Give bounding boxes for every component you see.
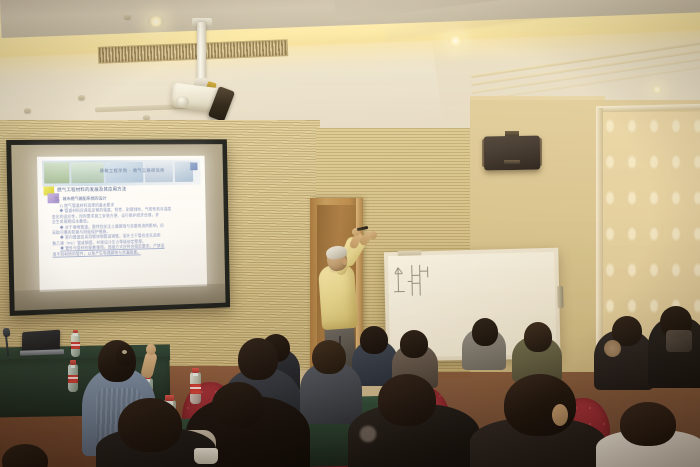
audience-head [360,326,388,354]
projection-screen: 建筑工程学院 · 燃气工程研究所 燃气工程材料的发展及其应用方法 二、城市燃气输… [6,139,230,316]
bottle-cap [70,360,76,364]
desk-microphone [2,328,10,338]
audience-hand [146,344,156,355]
bottle-label [190,384,201,394]
ceiling-sprinkler [124,14,131,19]
water-bottle[interactable] [190,372,201,404]
bottle-cap [165,395,173,401]
institution-logo-icon [190,162,197,170]
bottle-neck [193,372,198,376]
bottle-neck [71,364,76,368]
hair-clip [122,350,127,354]
bottle-cap [192,368,199,373]
water-bottle[interactable] [68,364,78,392]
bottle-label-stripe [71,344,80,346]
audience-head [238,338,278,380]
audience-head [118,398,182,452]
speaker-badge [504,160,520,164]
ceiling-sprinkler [24,108,31,113]
presenter-hand-right [369,231,377,239]
slide-subtitle: 二、城市燃气输配系统的设计 [54,196,106,203]
ceiling-sprinkler [78,95,85,100]
slide-banner: 建筑工程学院 · 燃气工程研究所 [42,160,201,187]
audience-head [212,382,264,428]
paper-cup[interactable] [194,448,218,464]
audience-head [472,318,498,346]
slide-banner-title: 建筑工程学院 · 燃气工程研究所 [100,168,165,174]
projector-drop-pole [197,22,206,82]
slide-body: 1) 燃气管道材料选择的基本要求 ◆ 管道材料应具有足够的强度、韧性、耐腐蚀性、… [52,201,201,257]
bottle-label-stripe [190,387,201,389]
audience-head [504,374,576,436]
recessed-downlight [148,16,164,27]
tshirt-print-graphic [358,424,378,444]
presentation-slide: 建筑工程学院 · 燃气工程研究所 燃气工程材料的发展及其应用方法 二、城市燃气输… [37,156,207,292]
audience-head [524,322,552,352]
tshirt-print-graphic [604,340,621,357]
audience-head [312,340,346,374]
bottle-neck [73,333,77,336]
audience-head [620,402,676,446]
wall-mounted-loudspeaker [484,136,541,171]
bottle-label-stripe [68,377,78,379]
audience-head [400,330,428,358]
tshirt-print-graphic [666,330,692,352]
whiteboard-sketch-icon [392,261,448,302]
water-bottle[interactable] [71,333,80,357]
audience-hair-bun [116,344,134,366]
audience-ear [552,404,568,426]
recessed-downlight [448,36,463,46]
banner-photo-thumb [44,163,70,184]
screen-surface: 建筑工程学院 · 燃气工程研究所 燃气工程材料的发展及其应用方法 二、城市燃气输… [11,144,225,311]
audience-head [378,374,436,426]
whiteboard-top-tab [398,250,422,256]
marker-clip[interactable] [557,286,564,308]
lecture-room-photo: 建筑工程学院 · 燃气工程研究所 燃气工程材料的发展及其应用方法 二、城市燃气输… [0,0,700,467]
recessed-downlight [652,86,662,93]
slide-title: 燃气工程材料的发展及其应用方法 [57,186,126,193]
